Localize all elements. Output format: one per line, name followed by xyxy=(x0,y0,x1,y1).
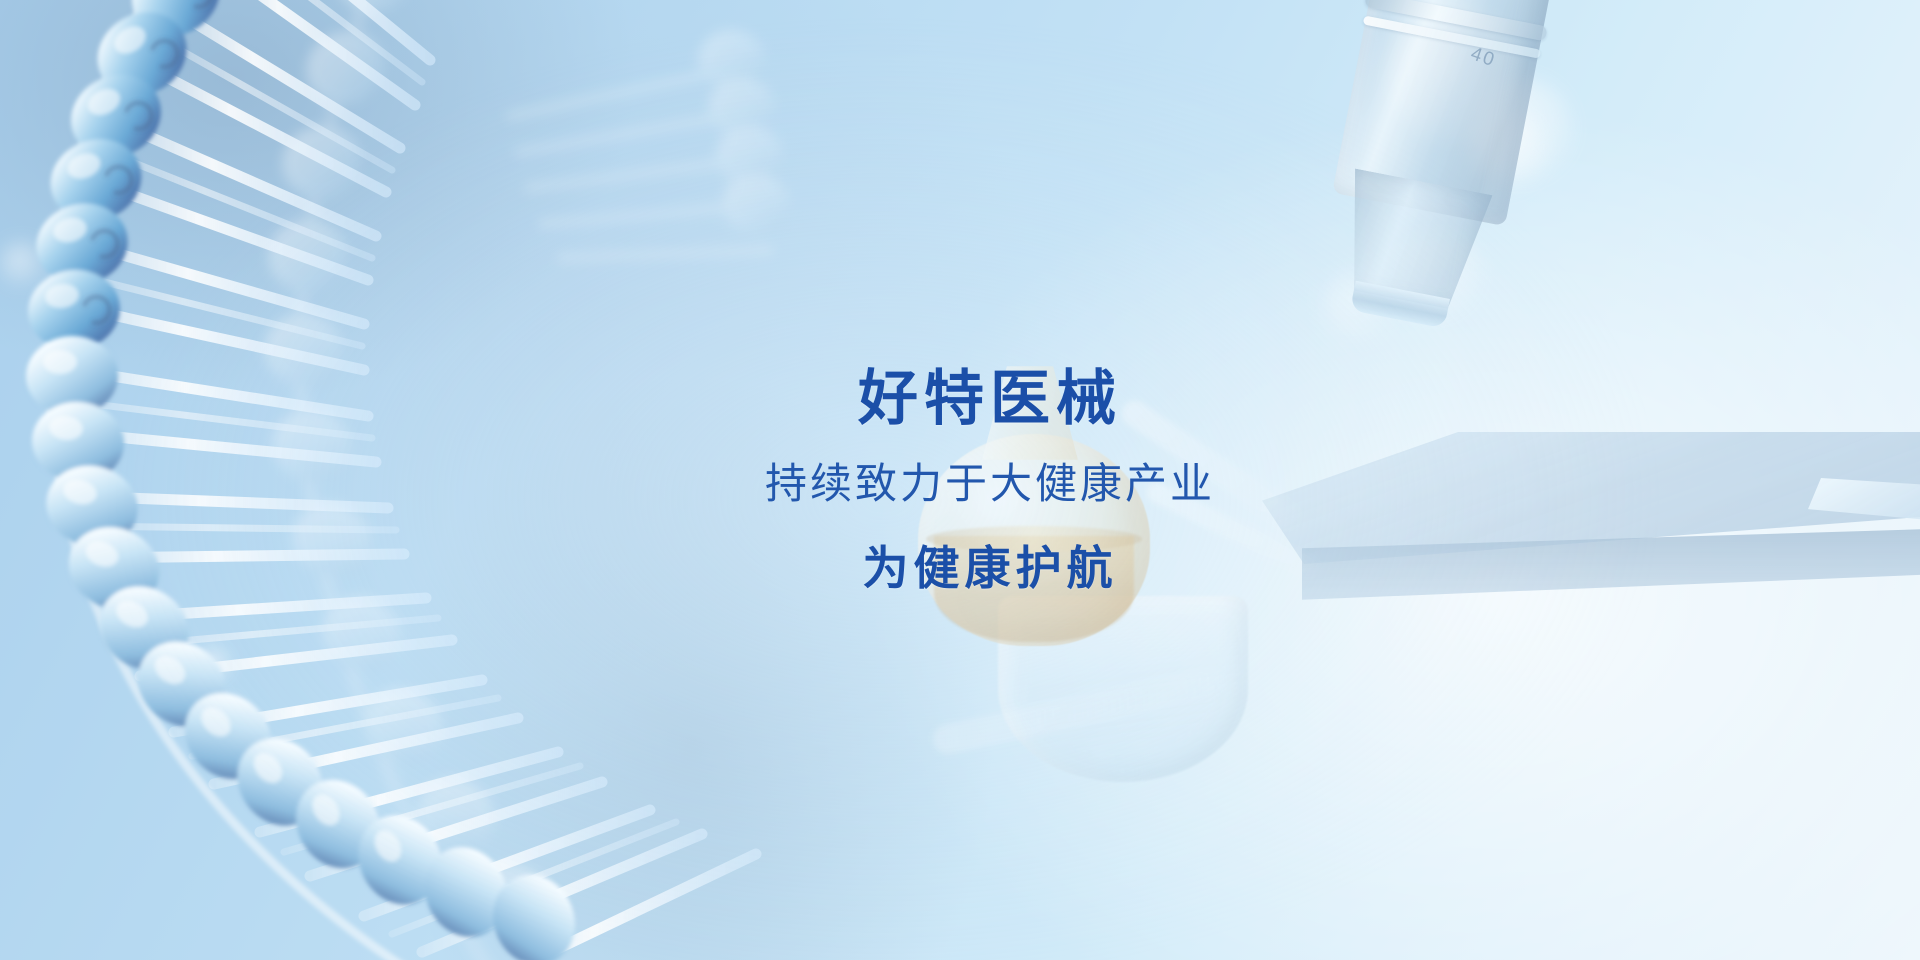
dna-double-helix xyxy=(0,0,770,960)
flask-neck xyxy=(982,366,1078,460)
dna-rungs xyxy=(60,0,756,960)
flask-rim xyxy=(926,526,1142,552)
laboratory-glassware xyxy=(870,360,1390,830)
dna-secondary-fan xyxy=(510,30,790,258)
hero-banner: 40 xyxy=(0,0,1920,960)
